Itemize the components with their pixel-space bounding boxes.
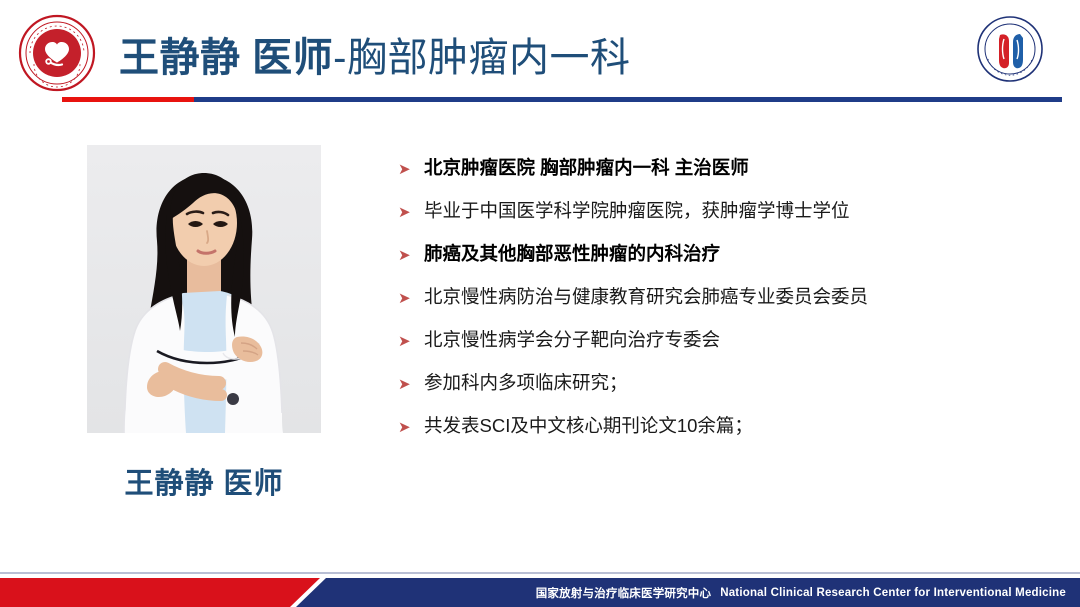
- page-title-name: 王静静 医师: [119, 38, 333, 78]
- footer-org-cn: 国家放射与治疗临床医学研究中心: [536, 585, 712, 601]
- credentials-list: ➤ 北京肿瘤医院 胸部肿瘤内一科 主治医师 ➤ 毕业于中国医学科学院肿瘤医院，获…: [398, 156, 1048, 457]
- footer-bar: 国家放射与治疗临床医学研究中心 National Clinical Resear…: [0, 578, 1080, 607]
- list-item: ➤ 北京肿瘤医院 胸部肿瘤内一科 主治医师: [398, 156, 1048, 199]
- list-item: ➤ 肺癌及其他胸部恶性肿瘤的内科治疗: [398, 242, 1048, 285]
- footer-org: 国家放射与治疗临床医学研究中心 National Clinical Resear…: [536, 578, 1066, 607]
- arrow-bullet-icon: ➤: [398, 371, 424, 397]
- association-seal-icon: [18, 14, 96, 92]
- arrow-bullet-icon: ➤: [398, 199, 424, 225]
- list-item: ➤ 参加科内多项临床研究；: [398, 371, 1048, 414]
- footer-red-block: [0, 578, 320, 607]
- list-item-label: 北京肿瘤医院 胸部肿瘤内一科 主治医师: [424, 156, 749, 180]
- list-item-label: 北京慢性病防治与健康教育研究会肺癌专业委员会委员: [424, 285, 868, 309]
- list-item: ➤ 毕业于中国医学科学院肿瘤医院，获肿瘤学博士学位: [398, 199, 1048, 242]
- list-item-label: 参加科内多项临床研究；: [424, 371, 628, 395]
- arrow-bullet-icon: ➤: [398, 156, 424, 182]
- list-item: ➤ 北京慢性病学会分子靶向治疗专委会: [398, 328, 1048, 371]
- doctor-name-caption: 王静静 医师: [87, 460, 321, 502]
- page-title: 王静静 医师-胸部肿瘤内一科: [119, 30, 630, 86]
- slide-footer: 国家放射与治疗临床医学研究中心 National Clinical Resear…: [0, 560, 1080, 607]
- arrow-bullet-icon: ➤: [398, 414, 424, 440]
- footer-hairline: [0, 572, 1080, 574]
- list-item-label: 北京慢性病学会分子靶向治疗专委会: [424, 328, 720, 352]
- doctor-portrait-photo: [87, 145, 321, 433]
- list-item: ➤ 共发表SCI及中文核心期刊论文10余篇；: [398, 414, 1048, 457]
- page-title-department: -胸部肿瘤内一科: [333, 38, 630, 78]
- arrow-bullet-icon: ➤: [398, 242, 424, 268]
- header-divider: [62, 97, 1062, 102]
- list-item: ➤ 北京慢性病防治与健康教育研究会肺癌专业委员会委员: [398, 285, 1048, 328]
- arrow-bullet-icon: ➤: [398, 328, 424, 354]
- list-item-label: 肺癌及其他胸部恶性肿瘤的内科治疗: [424, 242, 720, 266]
- divider-red-segment: [62, 97, 194, 102]
- footer-org-en: National Clinical Research Center for In…: [720, 587, 1066, 599]
- list-item-label: 共发表SCI及中文核心期刊论文10余篇；: [424, 414, 753, 438]
- slide-root: 王静静 医师-胸部肿瘤内一科: [0, 0, 1080, 607]
- list-item-label: 毕业于中国医学科学院肿瘤医院，获肿瘤学博士学位: [424, 199, 850, 223]
- arrow-bullet-icon: ➤: [398, 285, 424, 311]
- research-center-emblem-icon: [976, 15, 1044, 83]
- divider-blue-segment: [194, 97, 1062, 102]
